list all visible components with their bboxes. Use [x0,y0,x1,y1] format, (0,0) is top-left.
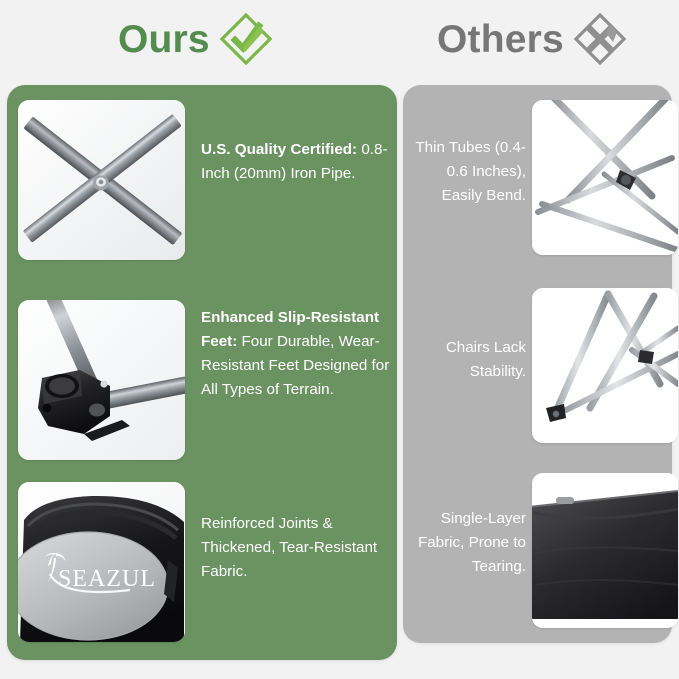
others-feature-text: Single-Layer Fabric, Prone to Tearing. [408,473,526,579]
slip-resistant-foot-photo [18,300,185,460]
unstable-chair-frame-photo [532,288,678,443]
thin-tube-frame-photo [532,100,678,255]
black-single-layer-bag-photo [532,473,678,628]
ours-feature-row: U.S. Quality Certified: 0.8-Inch (20mm) … [18,100,393,260]
ours-title: Ours [118,20,210,59]
others-feature-text: Thin Tubes (0.4-0.6 Inches), Easily Bend… [408,100,526,208]
others-header: Others [437,12,627,66]
ours-feature-text: U.S. Quality Certified: 0.8-Inch (20mm) … [201,100,393,186]
ours-feature-text: Enhanced Slip-Resistant Feet: Four Durab… [201,300,393,402]
ours-feature-body: Reinforced Joints & Thickened, Tear-Resi… [201,515,377,580]
others-feature-row: Single-Layer Fabric, Prone to Tearing. [408,473,678,628]
ours-header: Ours [118,12,273,66]
others-feature-row: Chairs Lack Stability. [408,288,678,443]
others-feature-row: Thin Tubes (0.4-0.6 Inches), Easily Bend… [408,100,678,255]
others-title: Others [437,20,564,59]
ours-feature-row: SEAZUL Reinforced Joints & Thickened, Te… [18,482,393,642]
svg-text:SEAZUL: SEAZUL [58,566,156,592]
cross-badge-icon [573,12,627,66]
others-feature-text: Chairs Lack Stability. [408,288,526,384]
ours-feature-title: U.S. Quality Certified: [201,141,357,158]
ours-feature-row: Enhanced Slip-Resistant Feet: Four Durab… [18,300,393,460]
seazul-carry-bag-photo: SEAZUL [18,482,185,642]
check-badge-icon [219,12,273,66]
comparison-infographic: Ours Others [0,0,679,679]
ours-feature-text: Reinforced Joints & Thickened, Tear-Resi… [201,482,393,584]
iron-pipe-x-frame-photo [18,100,185,260]
